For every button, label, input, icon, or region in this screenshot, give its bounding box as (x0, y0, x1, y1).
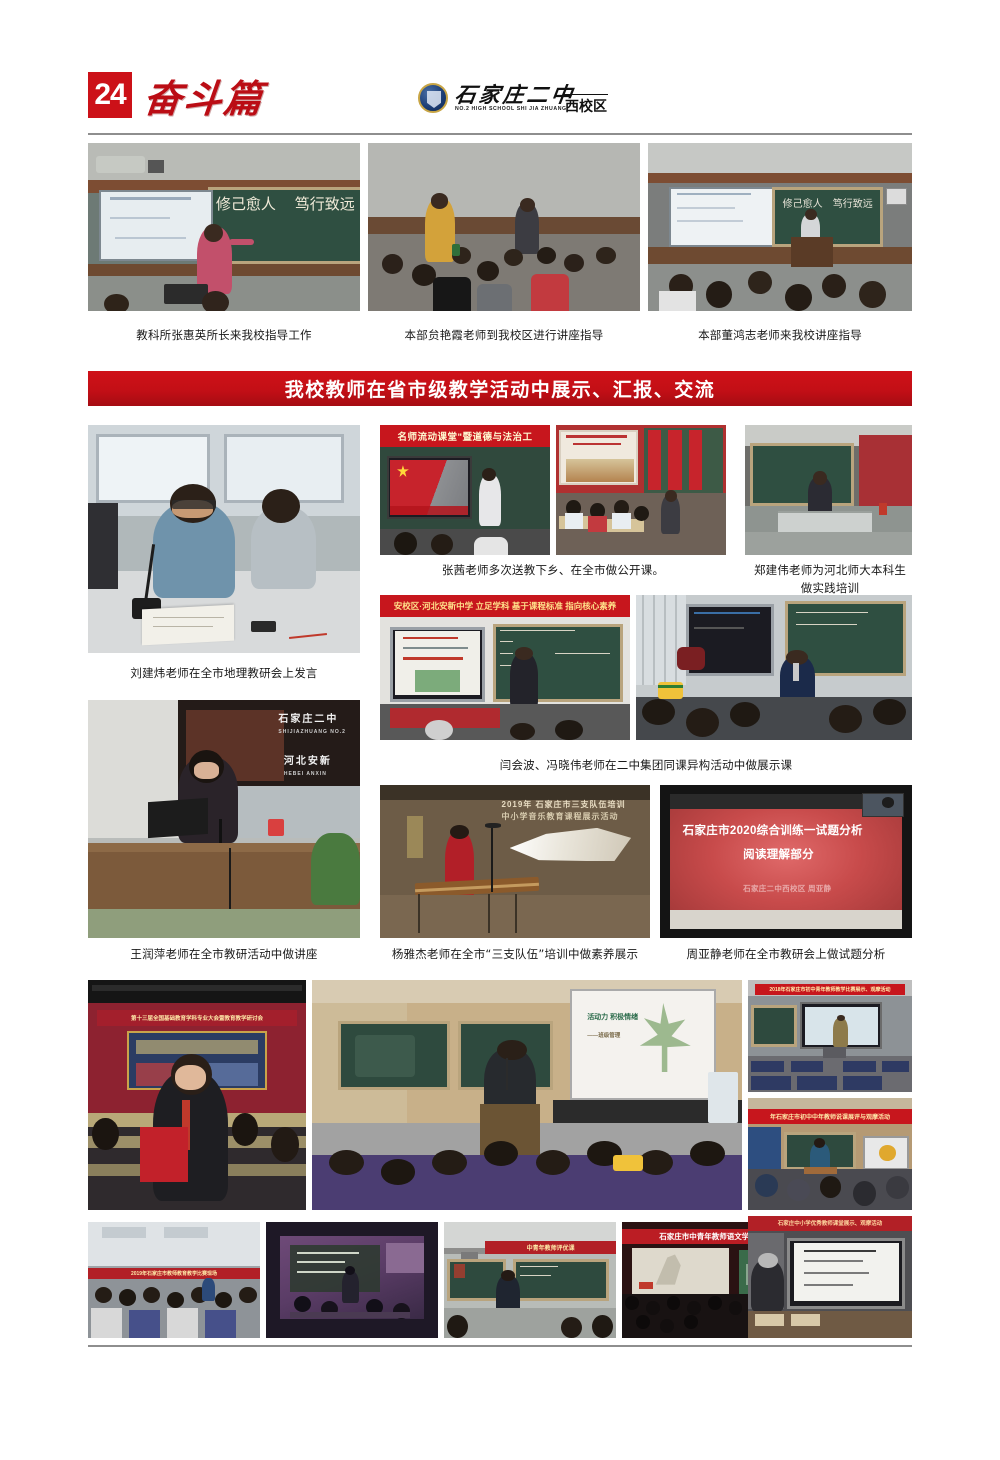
school-logo: 石家庄二中 NO.2 HIGH SCHOOL SHI JIA ZHUANG 西校… (418, 76, 608, 120)
banner-contest-2018: 2018年石家庄市初中青年教师教学比赛展示、观摩活动 (755, 984, 906, 994)
banner-shuoke: 年石家庄市初中中年教师说课展评与观摩活动 (748, 1109, 912, 1124)
caption-zhang-huiying: 教科所张惠英所长来我校指导工作 (88, 327, 360, 344)
photo-bottom-5: 石家庄中小学优秀教师课堂展示、观摩活动 (748, 1216, 912, 1338)
photo-dong-hongzhi: 修己愈人 笃行致远 (648, 143, 912, 311)
classroom-banner-anxin: 安校区·河北安新中学 立足学科 基于课程标准 指向核心素养 (380, 595, 630, 617)
school-badge-icon (418, 83, 448, 113)
photo-shuoke-event: 年石家庄市初中中年教师说课展评与观摩活动 (748, 1098, 912, 1210)
photo-zhang-qian-a: 名师流动课堂"暨道德与法治工 (380, 425, 550, 555)
screen-text-cn-2: 河北安新 (284, 752, 332, 767)
photo-contest-2018: 2018年石家庄市初中青年教师教学比赛展示、观摩活动 (748, 980, 912, 1092)
brand-divider (564, 94, 608, 95)
photo-bottom-1: 2019年石家庄市教师教育教学比赛现场 (88, 1222, 260, 1338)
caption-liu-jianwei: 刘建炜老师在全市地理教研会上发言 (88, 665, 360, 682)
banner-bottom-3: 中青年教师评优课 (485, 1241, 616, 1255)
page-title: 奋斗篇 (141, 68, 267, 123)
page-header: 24 奋斗篇 石家庄二中 NO.2 HIGH SCHOOL SHI JIA ZH… (88, 70, 912, 132)
photo-yun-yanxia (368, 143, 640, 311)
slide-title-classroom: 活动力 积极情绪 (587, 1012, 638, 1022)
photo-zhang-qian-b (556, 425, 726, 555)
banner-bottom-5: 石家庄中小学优秀教师课堂展示、观摩活动 (748, 1216, 912, 1231)
caption-yan-feng: 闫会波、冯晓伟老师在二中集团同课异构活动中做展示课 (380, 757, 912, 774)
photo-yan-huibo: 安校区·河北安新中学 立足学科 基于课程标准 指向核心素养 (380, 595, 630, 740)
school-name-block: 石家庄二中 NO.2 HIGH SCHOOL SHI JIA ZHUANG (455, 84, 575, 112)
school-name-cn: 石家庄二中 (454, 84, 577, 105)
caption-zhou-yajing: 周亚静老师在全市教研会上做试题分析 (660, 946, 912, 963)
photo-hall-conference: 第十三届全国基础教育学科专业大会暨教育教学研讨会 (88, 980, 306, 1210)
page-number: 24 (88, 72, 132, 118)
caption-wang-runping: 王润萍老师在全市教研活动中做讲座 (88, 946, 360, 963)
caption-dong-hongzhi: 本部董鸿志老师来我校讲座指导 (648, 327, 912, 344)
chalk-text-1: 修己愈人 (216, 193, 276, 214)
school-name-en: NO.2 HIGH SCHOOL SHI JIA ZHUANG (455, 107, 575, 112)
photo-feng-xiaowei (636, 595, 912, 740)
slide-sub-zhou: 阅读理解部分 (743, 846, 814, 862)
hall-banner: 第十三届全国基础教育学科专业大会暨教育教学研讨会 (97, 1010, 298, 1026)
caption-zheng-jianwei-line1: 郑建伟老师为河北师大本科生 (740, 562, 920, 579)
photo-zhou-yajing: 石家庄市2020综合训练一试题分析 阅读理解部分 石家庄二中西校区 周亚静 (660, 785, 912, 938)
caption-yun-yanxia: 本部贠艳霞老师到我校区进行讲座指导 (368, 327, 640, 344)
photo-zheng-jianwei (745, 425, 912, 555)
photo-bottom-2 (266, 1222, 438, 1338)
photo-bottom-3: 中青年教师评优课 (444, 1222, 616, 1338)
slide-author-zhou: 石家庄二中西校区 周亚静 (743, 883, 831, 894)
banner-bottom-1: 2019年石家庄市教师教育教学比赛现场 (88, 1268, 260, 1278)
chalk-text-3: 修己愈人 (783, 195, 823, 210)
slide-title-zhou: 石家庄市2020综合训练一试题分析 (683, 822, 863, 838)
magazine-page: 24 奋斗篇 石家庄二中 NO.2 HIGH SCHOOL SHI JIA ZH… (0, 0, 1000, 1460)
photo-yang-yajie: 2019年 石家庄市三支队伍培训 中小学音乐教育课程展示活动 (380, 785, 650, 938)
caption-zhang-qian: 张茜老师多次送教下乡、在全市做公开课。 (380, 562, 726, 579)
footer-divider (88, 1345, 912, 1347)
header-divider (88, 133, 912, 135)
caption-yang-yajie: 杨雅杰老师在全市“三支队伍”培训中做素养展示 (378, 946, 652, 963)
section-banner: 我校教师在省市级教学活动中展示、汇报、交流 (88, 371, 912, 406)
slide-sub-classroom: ——班级管理 (587, 1031, 620, 1039)
screen-text-cn-1: 石家庄二中 (278, 710, 338, 725)
screen-text-yang-2: 中小学音乐教育课程展示活动 (502, 811, 619, 822)
chalk-text-2: 笃行致远 (295, 193, 355, 214)
classroom-banner-mingshi: 名师流动课堂"暨道德与法治工 (380, 425, 550, 447)
photo-wang-runping: 石家庄二中 SHIJIAZHUANG NO.2 河北安新 HEBEI ANXIN (88, 700, 360, 938)
section-banner-text: 我校教师在省市级教学活动中展示、汇报、交流 (285, 375, 716, 402)
photo-big-classroom: 活动力 积极情绪 ——班级管理 (312, 980, 742, 1210)
photo-liu-jianwei (88, 425, 360, 653)
chalk-text-4: 笃行致远 (833, 195, 873, 210)
screen-text-yang-1: 2019年 石家庄市三支队伍培训 (502, 799, 626, 810)
screen-text-en-1: SHIJIAZHUANG NO.2 (278, 729, 346, 735)
school-campus-label: 西校区 (565, 96, 607, 116)
photo-zhang-huiying: 修己愈人 笃行致远 (88, 143, 360, 311)
screen-text-en-2: HEBEI ANXIN (284, 771, 327, 777)
